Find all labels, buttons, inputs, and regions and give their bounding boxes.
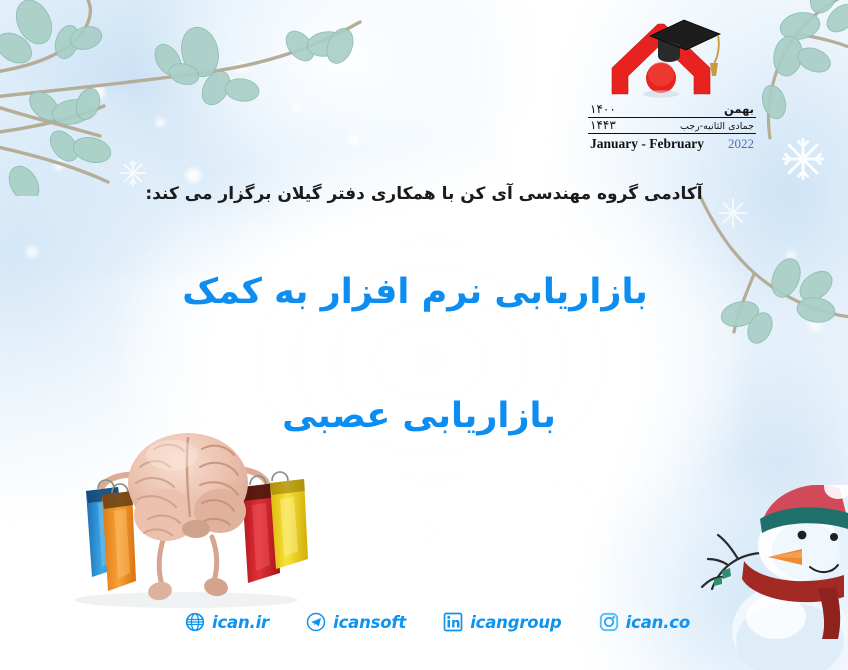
event-title-line-1: بازاریابی نرم افزار به کمک: [0, 272, 848, 312]
social-link-instagram[interactable]: ican.co: [599, 612, 690, 632]
instagram-icon: [599, 612, 619, 632]
ican-graduation-cap-logo-icon: [602, 6, 738, 98]
social-label-instagram: ican.co: [626, 613, 690, 632]
calendar-table: بهمن ۱۴۰۰ جمادی الثانیه-رجب ۱۴۴۳ 2022 Ja…: [588, 102, 756, 153]
hijri-year: ۱۴۴۳: [590, 118, 616, 132]
social-link-website[interactable]: ican.ir: [185, 612, 269, 632]
social-link-telegram[interactable]: icansoft: [306, 612, 406, 632]
calendar-row-gregorian: 2022 January - February: [588, 134, 756, 153]
social-label-website: ican.ir: [212, 613, 269, 632]
social-label-telegram: icansoft: [333, 613, 406, 632]
watercolor-snowman-illustration: [698, 485, 848, 670]
telegram-icon: [306, 612, 326, 632]
announcement-heading: آکادمی گروه مهندسی آی کن با همکاری دفتر …: [0, 184, 848, 204]
persian-year: ۱۴۰۰: [590, 102, 616, 116]
gregorian-months: January - February: [590, 136, 704, 152]
social-label-linkedin: icangroup: [470, 613, 561, 632]
hijri-month: جمادی الثانیه-رجب: [680, 121, 754, 132]
gregorian-year: 2022: [728, 136, 754, 152]
social-link-linkedin[interactable]: icangroup: [443, 612, 561, 632]
social-links-bar: ican.ir icansoft icangroup: [185, 612, 690, 632]
branch-top-left-icon: [0, 0, 388, 196]
linkedin-icon: [443, 612, 463, 632]
calendar-row-persian: بهمن ۱۴۰۰: [588, 102, 756, 118]
globe-www-icon: [185, 612, 205, 632]
persian-month: بهمن: [724, 102, 754, 116]
brain-with-shopping-bags-illustration: [36, 425, 336, 610]
snowflake-icon: [780, 136, 826, 182]
logo-calendar-block: بهمن ۱۴۰۰ جمادی الثانیه-رجب ۱۴۴۳ 2022 Ja…: [588, 6, 758, 156]
calendar-row-hijri: جمادی الثانیه-رجب ۱۴۴۳: [588, 118, 756, 134]
poster-canvas: بهمن ۱۴۰۰ جمادی الثانیه-رجب ۱۴۴۳ 2022 Ja…: [0, 0, 848, 670]
